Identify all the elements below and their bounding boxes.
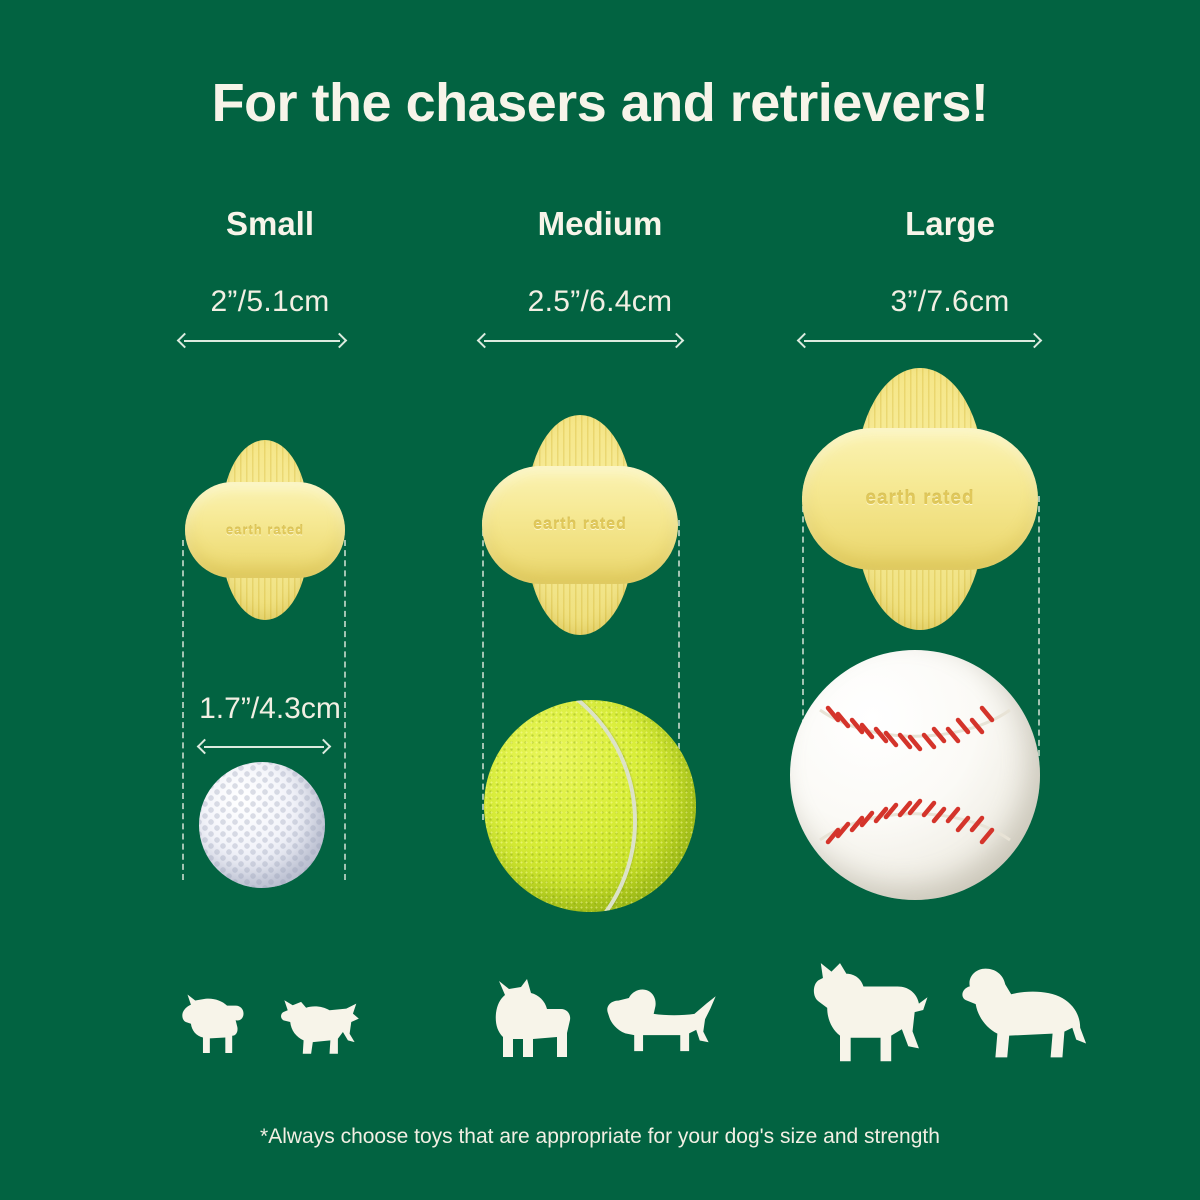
arrow-head-right-icon [669,333,685,349]
boxer-icon [808,950,936,1070]
arrow-bar [184,340,340,342]
arrow-bar [204,746,324,748]
toy-medium: earth rated [482,415,678,635]
arrow-head-right-icon [332,333,348,349]
ball-dimension-small: 1.7”/4.3cm [120,692,420,726]
measure-arrow-small [178,332,346,350]
brand-emboss-medium: earth rated [533,516,627,534]
toy-dimension-small: 2”/5.1cm [120,285,420,319]
arrow-head-right-icon [316,739,332,755]
footnote-disclaimer: *Always choose toys that are appropriate… [0,1125,1200,1149]
dog-silhouettes-small [120,970,420,1065]
baseball-stitching [790,650,1040,900]
toy-dimension-medium: 2.5”/6.4cm [450,285,750,319]
arrow-head-left-icon [197,739,213,755]
toy-large: earth rated [802,368,1038,630]
toy-dimension-large: 3”/7.6cm [780,285,1120,319]
arrow-head-left-icon [477,333,493,349]
terrier-icon [276,979,368,1065]
dog-silhouettes-large [780,945,1120,1070]
arrow-head-right-icon [1027,333,1043,349]
arrow-bar [804,340,1035,342]
toy-horizontal-bar: earth rated [482,466,678,584]
measure-arrow-medium [478,332,683,350]
chihuahua-icon [172,979,258,1065]
column-label-medium: Medium [450,205,750,243]
dog-silhouettes-medium [450,962,750,1067]
golf-ball-dimples [199,762,325,888]
toy-small: earth rated [185,440,345,620]
arrow-head-left-icon [177,333,193,349]
tennis-ball [484,700,696,912]
brand-emboss-small: earth rated [226,523,304,538]
toy-horizontal-bar: earth rated [185,482,345,578]
measure-arrow-golfball [198,738,330,756]
arrow-bar [484,340,677,342]
column-label-small: Small [120,205,420,243]
infographic-root: For the chasers and retrievers! Small 2”… [0,0,1200,1200]
golf-ball [199,762,325,888]
brand-emboss-large: earth rated [865,488,974,510]
measure-arrow-large [798,332,1041,350]
column-label-large: Large [780,205,1120,243]
arrow-head-left-icon [797,333,813,349]
toy-horizontal-bar: earth rated [802,428,1038,570]
baseball [790,650,1040,900]
french-bulldog-icon [479,967,579,1067]
dachshund-icon [597,975,721,1067]
retriever-icon [954,950,1092,1070]
